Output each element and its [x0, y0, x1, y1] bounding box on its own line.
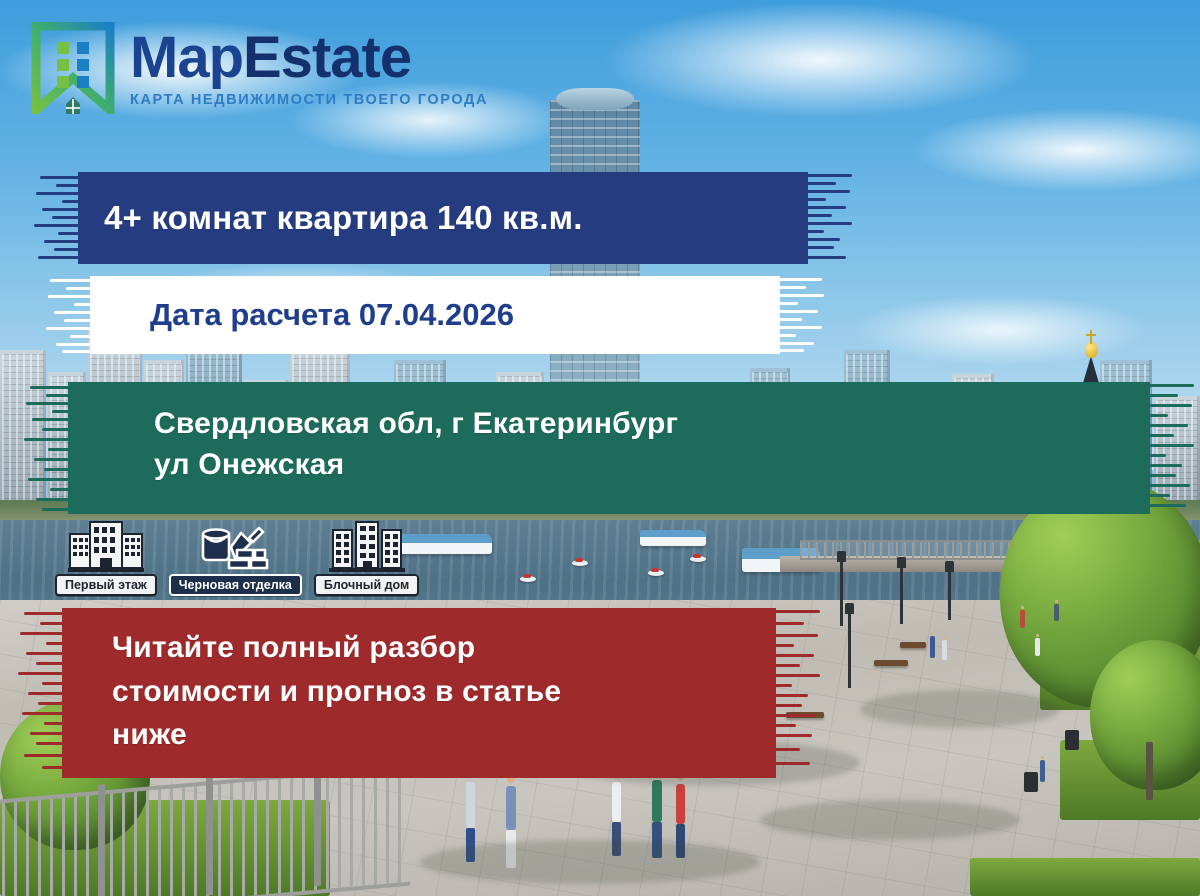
small-boat — [690, 556, 706, 562]
pedestrian — [1035, 638, 1040, 656]
banner-location-line1: Свердловская обл, г Екатеринбург — [154, 404, 1150, 445]
passenger-ship — [640, 530, 706, 546]
banner-property-summary-text: 4+ комнат квартира 140 кв.м. — [78, 172, 808, 264]
trash-bin — [1024, 772, 1038, 792]
bench — [900, 642, 926, 648]
badge-block-house-label: Блочный дом — [314, 574, 419, 596]
pedestrian — [1020, 610, 1025, 628]
pedestrian — [930, 636, 935, 658]
brush-fray-left — [18, 608, 64, 778]
brand-name-estate: Estate — [243, 25, 411, 90]
brand-name: MapEstate — [130, 29, 488, 87]
badge-rough-finish-label: Черновая отделка — [169, 574, 302, 596]
brush-fray-left — [24, 382, 70, 514]
lawn — [970, 858, 1200, 896]
badge-rough-finish[interactable]: Черновая отделка — [169, 518, 302, 596]
banner-location-line2: ул Онежская — [154, 445, 1150, 486]
paint-bucket-trowel-bricks-icon — [197, 518, 273, 572]
banner-call-to-action: Читайте полный разбор стоимости и прогно… — [62, 608, 776, 778]
brush-fray-right — [778, 276, 824, 354]
brand-logo[interactable]: MapEstate КАРТА НЕДВИЖИМОСТИ ТВОЕГО ГОРО… — [30, 22, 488, 114]
banner-calculation-date-text: Дата расчета 07.04.2026 — [90, 276, 780, 354]
pedestrian — [1040, 760, 1045, 782]
pedestrian — [506, 786, 516, 830]
brand-tagline: КАРТА НЕДВИЖИМОСТИ ТВОЕГО ГОРОДА — [130, 93, 488, 108]
tree-trunk — [1146, 742, 1153, 800]
small-boat — [572, 560, 588, 566]
apartment-block-icon — [329, 518, 405, 572]
banner-property-summary: 4+ комнат квартира 140 кв.м. — [78, 172, 808, 264]
brush-fray-right — [806, 172, 852, 264]
building-facade-icon — [68, 518, 144, 572]
small-boat — [520, 576, 536, 582]
small-boat — [648, 570, 664, 576]
banner-location: Свердловская обл, г Екатеринбург ул Онеж… — [68, 382, 1150, 514]
trash-bin — [1065, 730, 1079, 750]
banner-cta-line2: стоимости и прогноз в статье — [112, 670, 776, 714]
street-lamp — [900, 566, 903, 624]
pedestrian — [942, 640, 947, 660]
banner-cta-line1: Читайте полный разбор — [112, 626, 776, 670]
banner-calculation-date: Дата расчета 07.04.2026 — [90, 276, 780, 354]
brand-name-map: Map — [130, 25, 243, 90]
street-lamp — [948, 570, 951, 620]
brush-fray-left — [46, 276, 92, 354]
pedestrian — [466, 782, 475, 828]
pedestrian — [652, 780, 662, 822]
brush-fray-left — [34, 172, 80, 264]
badge-first-floor[interactable]: Первый этаж — [55, 518, 157, 596]
banner-cta-line3: ниже — [112, 713, 776, 757]
street-lamp — [840, 560, 843, 626]
badge-block-house[interactable]: Блочный дом — [314, 518, 419, 596]
brush-fray-right — [1148, 382, 1194, 514]
bench — [874, 660, 908, 666]
poster-canvas: MapEstate КАРТА НЕДВИЖИМОСТИ ТВОЕГО ГОРО… — [0, 0, 1200, 896]
bookmark-building-icon — [30, 22, 116, 114]
tower-crown — [556, 88, 634, 110]
pedestrian — [1054, 604, 1059, 621]
pedestrian — [676, 784, 685, 824]
property-feature-badges: Первый этаж — [55, 518, 419, 596]
pedestrian — [612, 782, 621, 822]
brush-fray-right — [774, 608, 820, 778]
badge-first-floor-label: Первый этаж — [55, 574, 157, 596]
street-lamp — [848, 612, 851, 688]
